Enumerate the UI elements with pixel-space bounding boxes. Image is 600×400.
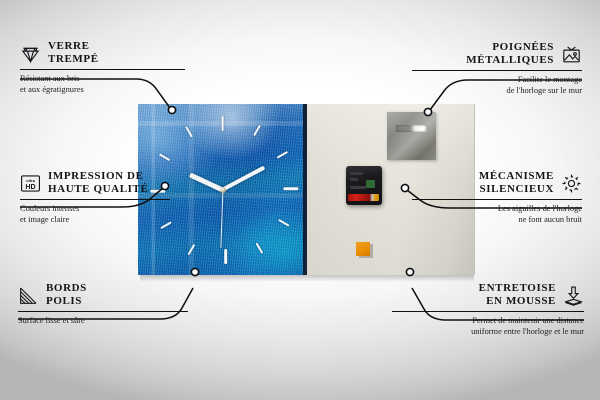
movement-detail <box>350 178 358 181</box>
callout-title: VERRE TREMPÉ <box>48 40 99 67</box>
clock-tick <box>276 150 288 158</box>
foam-spacer-icon <box>563 285 584 306</box>
clock-tick <box>253 124 261 136</box>
gear-icon <box>561 173 582 194</box>
callout-entretoise-en-mousse: ENTRETOISE EN MOUSSE Permet de maintenir… <box>392 282 584 337</box>
callout-title: BORDS POLIS <box>46 282 87 309</box>
clock-second-hand <box>220 189 223 247</box>
movement-detail <box>350 186 366 189</box>
callout-title: MÉCANISME SILENCIEUX <box>479 170 554 197</box>
battery <box>348 194 379 201</box>
polished-edge-icon <box>18 285 39 306</box>
callout-poignees-metalliques: POIGNÉES MÉTALLIQUES Facilite le montage… <box>412 41 582 96</box>
callout-mecanisme-silencieux: MÉCANISME SILENCIEUX Les aiguilles de l'… <box>412 170 582 225</box>
infographic-canvas: VERRE TREMPÉ Résistant aux bris et aux é… <box>0 0 600 400</box>
callout-description: Surface lisse et sûre <box>18 315 193 326</box>
callout-impression-haute-qualite: ultra HD IMPRESSION DE HAUTE QUALITÉ Cou… <box>20 170 200 225</box>
callout-rule <box>412 70 582 71</box>
callout-description: Permet de maintenir une distance uniform… <box>392 315 584 338</box>
clock-minute-hand <box>222 165 266 191</box>
callout-rule <box>20 69 185 70</box>
clock-tick <box>187 243 195 255</box>
clock-center-cap <box>220 187 226 193</box>
picture-hanger-icon <box>561 44 582 65</box>
foam-spacer <box>356 242 370 256</box>
clock-tick <box>224 249 227 264</box>
clock-tick <box>255 242 263 254</box>
diamond-icon <box>20 43 41 64</box>
callout-rule <box>412 199 582 200</box>
movement-detail <box>350 172 363 175</box>
quartz-movement-box <box>346 166 382 205</box>
callout-rule <box>20 199 170 200</box>
clock-tick <box>277 218 289 226</box>
svg-text:HD: HD <box>25 183 35 191</box>
callout-title: ENTRETOISE EN MOUSSE <box>479 282 556 309</box>
movement-label <box>366 180 375 188</box>
callout-rule <box>392 311 584 312</box>
clock-tick <box>221 116 224 131</box>
callout-bords-polis: BORDS POLIS Surface lisse et sûre <box>18 282 193 326</box>
callout-description: Les aiguilles de l'horloge ne font aucun… <box>412 203 582 226</box>
callout-description: Facilite le montage de l'horloge sur le … <box>412 74 582 97</box>
clock-tick <box>158 153 170 161</box>
clock-tick <box>185 125 193 137</box>
callout-description: Couleurs intenses et image claire <box>20 203 200 226</box>
callout-rule <box>18 311 188 312</box>
callout-title: IMPRESSION DE HAUTE QUALITÉ <box>48 170 148 197</box>
callout-description: Résistant aux bris et aux égratignures <box>20 73 190 96</box>
clock-tick <box>283 187 298 190</box>
callout-title: POIGNÉES MÉTALLIQUES <box>466 41 554 68</box>
metal-hanger-plate <box>387 112 436 160</box>
ultra-hd-icon: ultra HD <box>20 173 41 194</box>
callout-verre-trempe: VERRE TREMPÉ Résistant aux bris et aux é… <box>20 40 190 95</box>
